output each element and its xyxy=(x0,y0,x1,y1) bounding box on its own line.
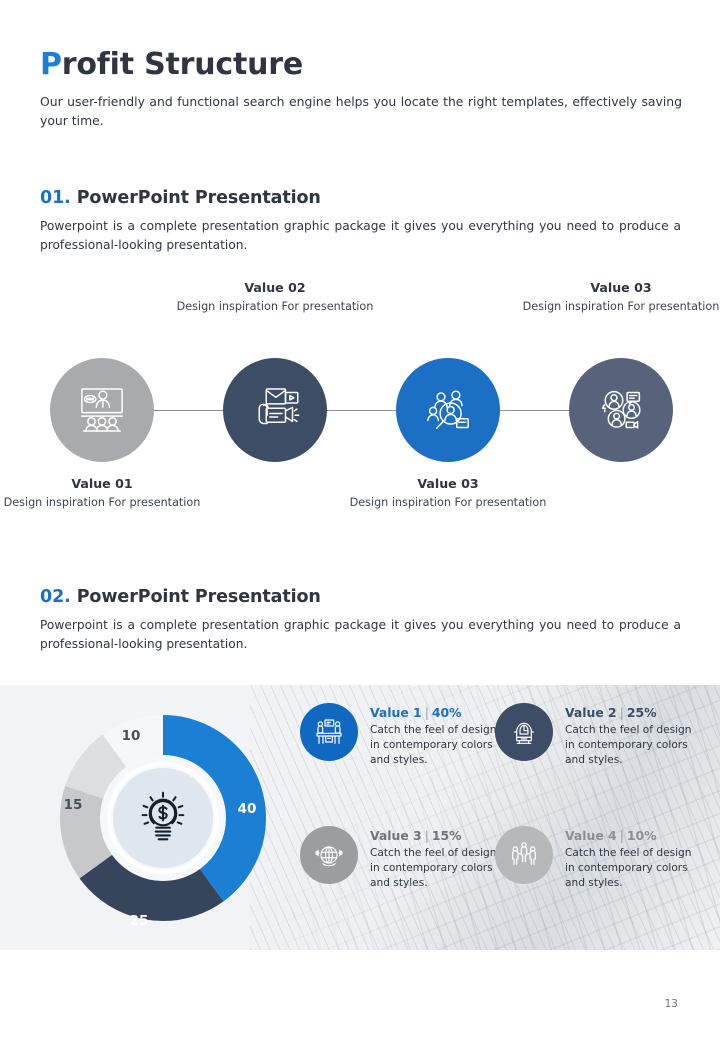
timeline-label-1: Value 01 Design inspiration For presenta… xyxy=(2,476,202,511)
section-01: 01. PowerPoint Presentation Powerpoint i… xyxy=(40,188,685,254)
timeline-circle-2[interactable] xyxy=(223,358,327,462)
timeline-title-1: Value 01 xyxy=(2,476,202,491)
value-card-row-2: Value 3|15% Catch the feel of design in … xyxy=(300,826,710,891)
value-card-1-title: Value 1|40% xyxy=(370,705,498,720)
value-card-4-label: Value 4 xyxy=(565,828,617,843)
value-card-3-icon-circle[interactable] xyxy=(300,826,358,884)
value-card-4-title: Value 4|10% xyxy=(565,828,693,843)
section-01-heading: 01. PowerPoint Presentation xyxy=(40,188,685,208)
value-card-1[interactable]: Value 1|40% Catch the feel of design in … xyxy=(300,703,495,768)
timeline-label-4: Value 03 Design inspiration For presenta… xyxy=(521,280,720,315)
timeline-circle-3[interactable] xyxy=(396,358,500,462)
value-card-1-separator: | xyxy=(422,705,432,720)
astronaut-helmet-icon xyxy=(508,716,540,748)
section-01-heading-text: PowerPoint Presentation xyxy=(77,188,321,208)
value-card-2[interactable]: Value 2|25% Catch the feel of design in … xyxy=(495,703,690,768)
donut-label-25: 25 xyxy=(130,913,149,929)
page-title-accent-letter: P xyxy=(40,47,62,82)
header: Profit Structure Our user-friendly and f… xyxy=(40,48,685,130)
value-card-3-desc: Catch the feel of design in contemporary… xyxy=(370,846,498,891)
section-02: 02. PowerPoint Presentation Powerpoint i… xyxy=(40,587,685,653)
value-card-2-desc: Catch the feel of design in contemporary… xyxy=(565,723,693,768)
timeline-title-4: Value 03 xyxy=(521,280,720,295)
team-group-icon xyxy=(508,839,540,871)
value-card-3-label: Value 3 xyxy=(370,828,422,843)
timeline-desc-3: Design inspiration For presentation xyxy=(348,495,548,511)
value-card-3-percent: 15% xyxy=(432,828,462,843)
lightbulb-dollar-icon xyxy=(132,787,194,849)
donut-label-15: 15 xyxy=(64,797,83,813)
page-subtitle: Our user-friendly and functional search … xyxy=(40,92,682,130)
timeline: Value 01 Design inspiration For presenta… xyxy=(0,280,720,545)
timeline-label-3: Value 03 Design inspiration For presenta… xyxy=(348,476,548,511)
timeline-circle-1[interactable] xyxy=(50,358,154,462)
value-card-1-text: Value 1|40% Catch the feel of design in … xyxy=(370,703,498,768)
value-card-2-percent: 25% xyxy=(627,705,657,720)
timeline-desc-1: Design inspiration For presentation xyxy=(2,495,202,511)
timeline-desc-4: Design inspiration For presentation xyxy=(521,299,720,315)
section-02-heading-text: PowerPoint Presentation xyxy=(77,587,321,607)
globe-network-icon xyxy=(313,839,345,871)
value-card-2-title: Value 2|25% xyxy=(565,705,693,720)
section-01-body: Powerpoint is a complete presentation gr… xyxy=(40,217,681,254)
team-chat-icon xyxy=(593,382,649,438)
page-title-rest: rofit Structure xyxy=(62,47,303,82)
presentation-audience-icon xyxy=(74,382,130,438)
value-card-2-label: Value 2 xyxy=(565,705,617,720)
bottom-panel: 40 25 15 10 xyxy=(0,685,720,950)
value-card-4-icon-circle[interactable] xyxy=(495,826,553,884)
timeline-desc-2: Design inspiration For presentation xyxy=(175,299,375,315)
value-card-3-text: Value 3|15% Catch the feel of design in … xyxy=(370,826,498,891)
value-cards: Value 1|40% Catch the feel of design in … xyxy=(300,703,710,891)
timeline-circle-4[interactable] xyxy=(569,358,673,462)
page-number: 13 xyxy=(665,998,678,1010)
timeline-label-2: Value 02 Design inspiration For presenta… xyxy=(175,280,375,315)
section-02-body: Powerpoint is a complete presentation gr… xyxy=(40,616,681,653)
donut-label-40: 40 xyxy=(238,801,257,817)
value-card-2-separator: | xyxy=(617,705,627,720)
slide: Profit Structure Our user-friendly and f… xyxy=(0,0,720,1040)
media-broadcast-icon xyxy=(247,382,303,438)
donut-chart: 40 25 15 10 xyxy=(38,699,288,937)
value-card-4-separator: | xyxy=(617,828,627,843)
value-card-1-desc: Catch the feel of design in contemporary… xyxy=(370,723,498,768)
section-01-number: 01. xyxy=(40,188,71,208)
section-02-number: 02. xyxy=(40,587,71,607)
section-02-heading: 02. PowerPoint Presentation xyxy=(40,587,685,607)
value-card-row-1: Value 1|40% Catch the feel of design in … xyxy=(300,703,710,768)
value-card-2-icon-circle[interactable] xyxy=(495,703,553,761)
value-card-4-text: Value 4|10% Catch the feel of design in … xyxy=(565,826,693,891)
value-card-3-title: Value 3|15% xyxy=(370,828,498,843)
donut-label-10: 10 xyxy=(122,728,141,744)
value-card-4-desc: Catch the feel of design in contemporary… xyxy=(565,846,693,891)
value-card-2-text: Value 2|25% Catch the feel of design in … xyxy=(565,703,693,768)
meeting-table-icon xyxy=(313,716,345,748)
timeline-title-2: Value 02 xyxy=(175,280,375,295)
value-card-4[interactable]: Value 4|10% Catch the feel of design in … xyxy=(495,826,690,891)
timeline-title-3: Value 03 xyxy=(348,476,548,491)
value-card-1-label: Value 1 xyxy=(370,705,422,720)
value-card-3[interactable]: Value 3|15% Catch the feel of design in … xyxy=(300,826,495,891)
value-card-4-percent: 10% xyxy=(627,828,657,843)
page-title: Profit Structure xyxy=(40,48,685,81)
value-card-1-percent: 40% xyxy=(432,705,462,720)
people-search-icon xyxy=(420,382,476,438)
value-card-3-separator: | xyxy=(422,828,432,843)
value-card-1-icon-circle[interactable] xyxy=(300,703,358,761)
timeline-connector-line xyxy=(100,410,620,411)
